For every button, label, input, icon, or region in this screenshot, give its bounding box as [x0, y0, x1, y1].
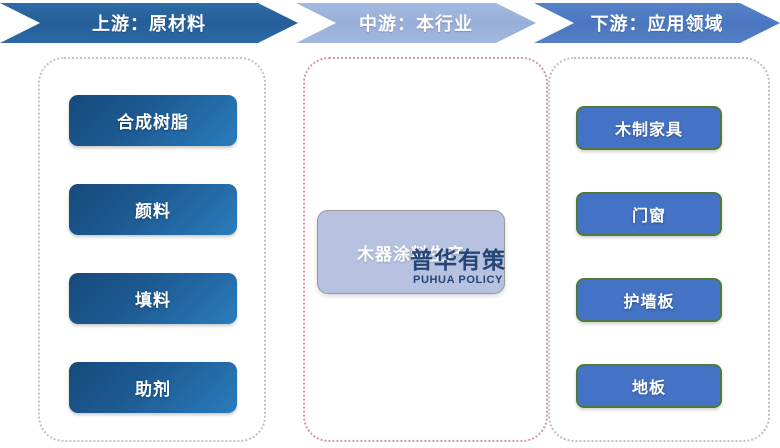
column-midstream: 木器涂料生产	[303, 57, 548, 442]
upstream-item-1[interactable]: 颜料	[69, 184, 237, 235]
stage-chevron-midstream[interactable]: 中游：本行业	[296, 3, 536, 43]
upstream-item-2[interactable]: 填料	[69, 273, 237, 324]
upstream-item-2-label: 填料	[135, 286, 171, 311]
upstream-item-3[interactable]: 助剂	[69, 362, 237, 413]
column-upstream: 合成树脂 颜料 填料 助剂	[38, 57, 266, 442]
downstream-item-0-label: 木制家具	[615, 116, 683, 140]
upstream-item-3-label: 助剂	[135, 375, 171, 400]
value-chain-header: 上游：原材料 中游：本行业 下游：应用领域	[0, 3, 780, 43]
upstream-item-1-label: 颜料	[135, 197, 171, 222]
downstream-item-1[interactable]: 门窗	[576, 192, 722, 236]
upstream-item-0[interactable]: 合成树脂	[69, 95, 237, 146]
stage-label-midstream: 中游：本行业	[359, 10, 473, 36]
downstream-item-3[interactable]: 地板	[576, 364, 722, 408]
downstream-item-3-label: 地板	[632, 374, 666, 398]
stage-label-downstream: 下游：应用领域	[591, 10, 724, 36]
stage-chevron-upstream[interactable]: 上游：原材料	[0, 3, 298, 43]
stage-chevron-downstream[interactable]: 下游：应用领域	[534, 3, 780, 43]
downstream-item-0[interactable]: 木制家具	[576, 106, 722, 150]
downstream-item-2-label: 护墙板	[623, 288, 674, 312]
upstream-item-0-label: 合成树脂	[117, 108, 189, 133]
downstream-item-1-label: 门窗	[632, 202, 666, 226]
midstream-industry-box[interactable]: 木器涂料生产	[317, 210, 505, 294]
column-downstream: 木制家具 门窗 护墙板 地板	[548, 57, 770, 442]
midstream-industry-label: 木器涂料生产	[357, 240, 465, 265]
downstream-item-2[interactable]: 护墙板	[576, 278, 722, 322]
stage-label-upstream: 上游：原材料	[92, 10, 206, 36]
